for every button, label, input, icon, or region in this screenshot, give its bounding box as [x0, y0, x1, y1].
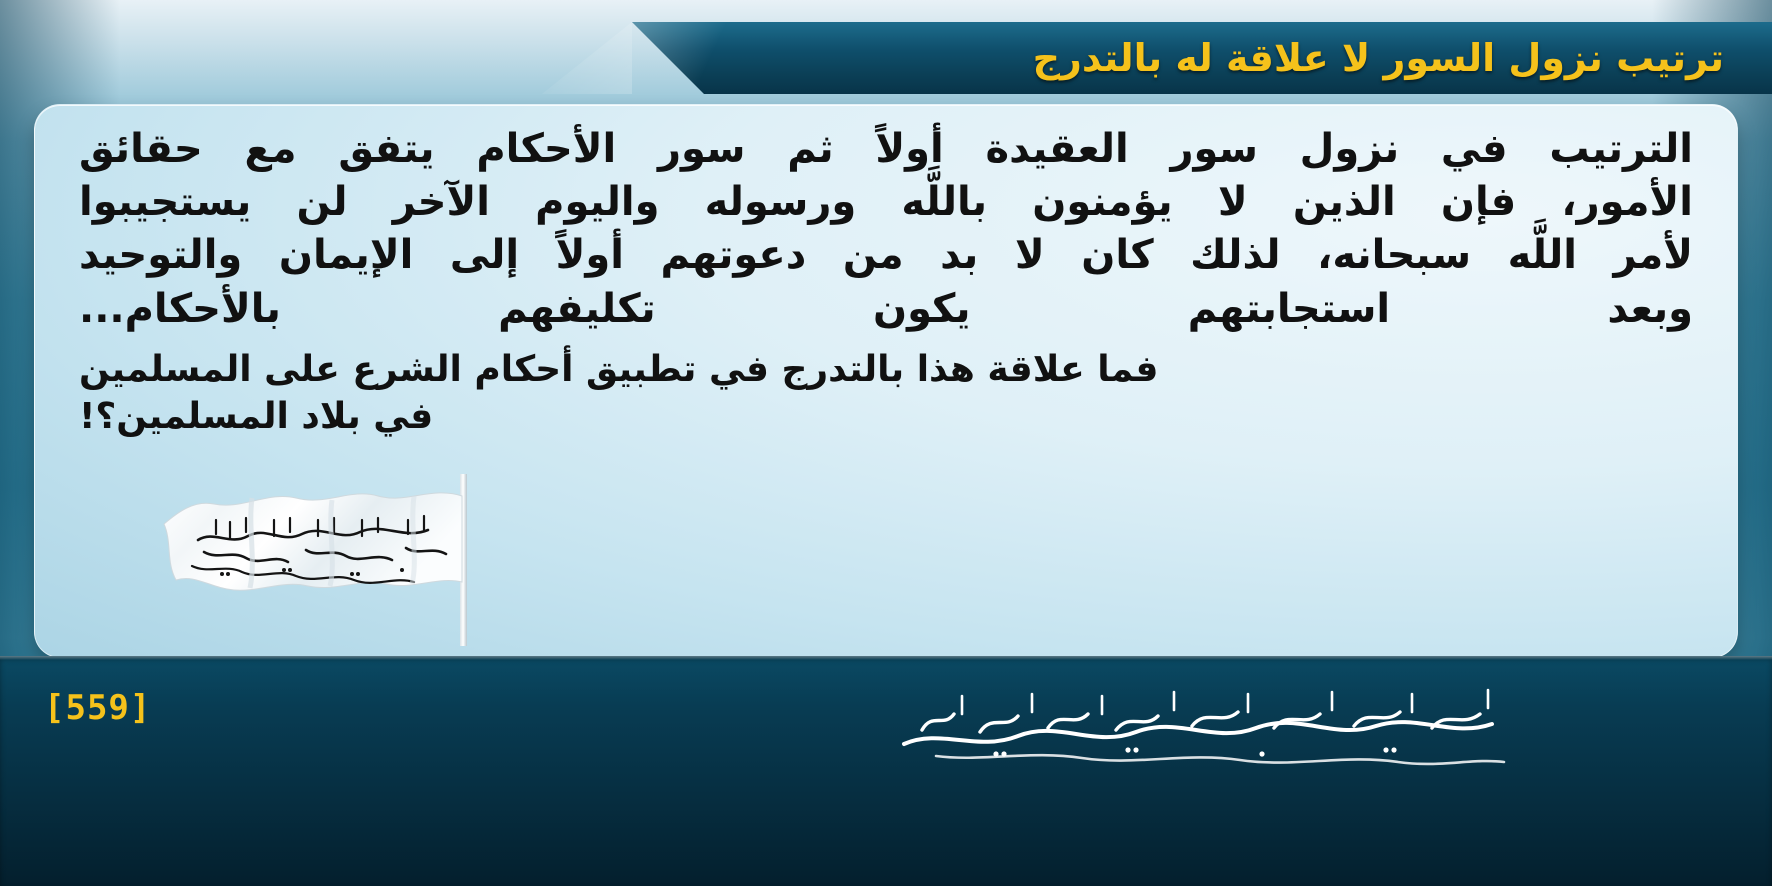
header-banner-tail [542, 22, 632, 94]
paragraph-line: وبعد استجابتهم يكون تكليفهم بالأحكام... [79, 283, 1693, 336]
paragraph-line: لأمر اللَّه سبحانه، لذلك كان لا بد من دع… [79, 229, 1693, 282]
card-body: الترتيب في نزول سور العقيدة أولاً ثم سور… [35, 105, 1737, 657]
question-paragraph: فما علاقة هذا بالتدرج في تطبيق أحكام الش… [79, 346, 1693, 441]
paragraph-line: الأمور، فإن الذين لا يؤمنون باللَّه ورسو… [79, 176, 1693, 229]
header-banner: ترتيب نزول السور لا علاقة له بالتدرج [632, 22, 1772, 94]
poster-canvas: ترتيب نزول السور لا علاقة له بالتدرج الت… [0, 0, 1772, 886]
footer-top-highlight [0, 656, 1772, 660]
page-title: ترتيب نزول السور لا علاقة له بالتدرج [1033, 36, 1724, 80]
main-paragraph: الترتيب في نزول سور العقيدة أولاً ثم سور… [79, 123, 1693, 336]
question-line: فما علاقة هذا بالتدرج في تطبيق أحكام الش… [79, 346, 1693, 394]
paragraph-line: الترتيب في نزول سور العقيدة أولاً ثم سور… [79, 123, 1693, 176]
question-line: في بلاد المسلمين؟! [79, 393, 1693, 441]
footer-bar: [559] [0, 656, 1772, 886]
author-signature-calligraphy [892, 670, 1532, 780]
content-card: الترتيب في نزول سور العقيدة أولاً ثم سور… [34, 104, 1738, 658]
page-number-badge: [559] [44, 688, 151, 728]
